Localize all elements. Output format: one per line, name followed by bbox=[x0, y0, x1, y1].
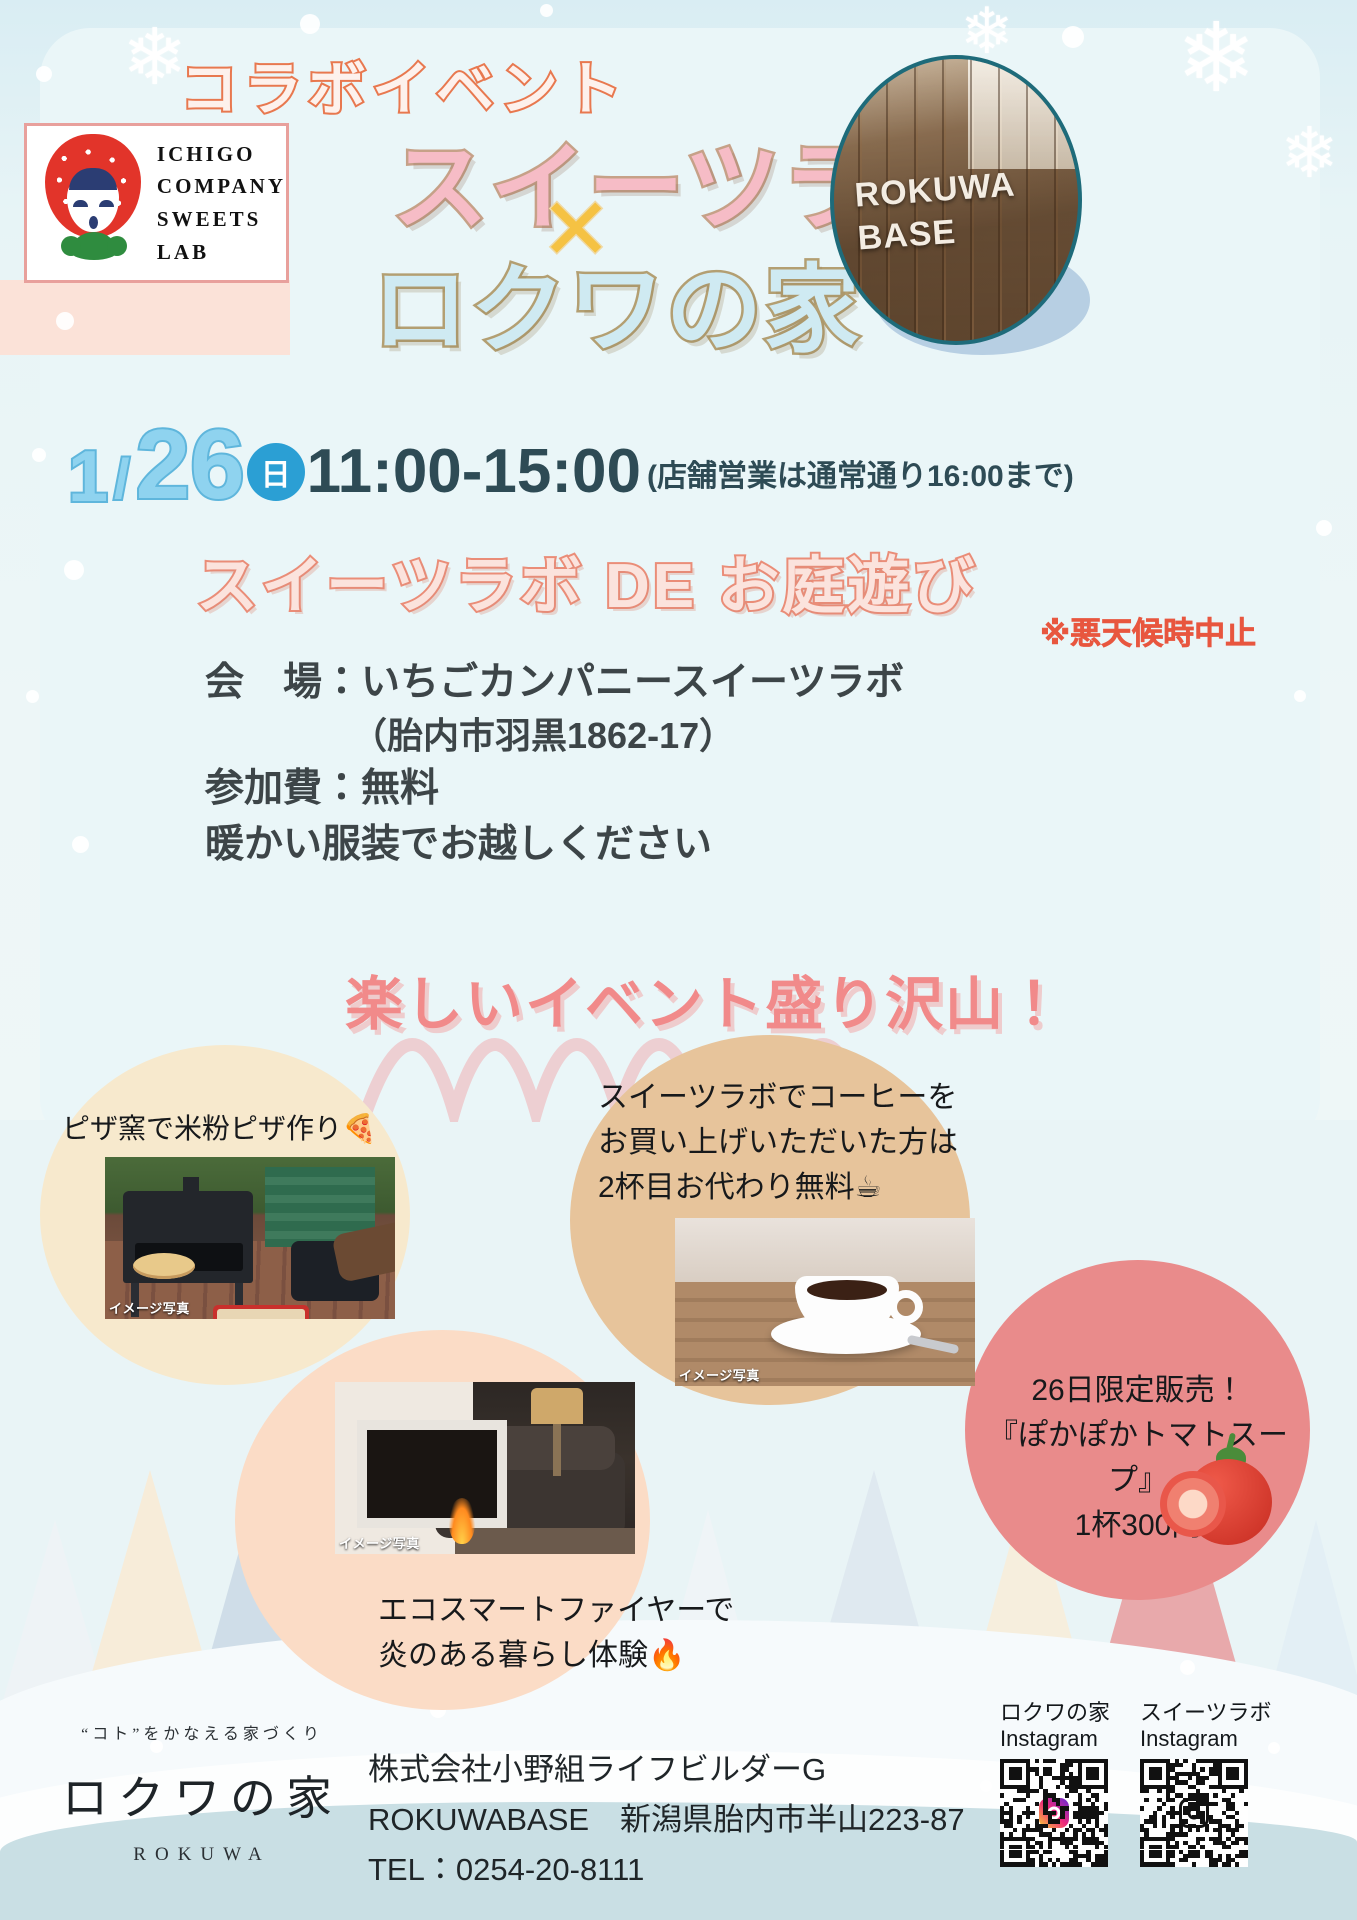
store-hours-note: (店舗営業は通常通り16:00まで) bbox=[647, 451, 1074, 495]
coffee-caption-line-3: 2杯目お代わり無料☕ bbox=[598, 1165, 958, 1210]
fireplace-caption-line-2: 炎のある暮らし体験🔥 bbox=[378, 1633, 734, 1678]
brand-tagline: “コト”をかなえる家づくり bbox=[62, 1720, 342, 1744]
logo-line-2: COMPANY bbox=[157, 170, 286, 203]
logo-line-1: ICHIGO bbox=[157, 138, 286, 171]
event-details: 会 場：いちごカンパニースイーツラボ （胎内市羽黒1862-17） 参加費：無料… bbox=[205, 655, 904, 872]
logo-line-4: LAB bbox=[157, 236, 286, 269]
brand-name: ロクワの家 bbox=[62, 1762, 342, 1828]
detail-fee: 参加費：無料 bbox=[205, 761, 904, 816]
qr-rokuwa-label: ロクワの家 Instagram bbox=[1000, 1700, 1110, 1753]
detail-address: （胎内市羽黒1862-17） bbox=[351, 710, 904, 761]
coffee-caption-line-1: スイーツラボでコーヒーを bbox=[598, 1075, 958, 1120]
brand-name-en: ROKUWA bbox=[62, 1844, 342, 1866]
qr-sweetslab-label-line-1: スイーツラボ bbox=[1140, 1700, 1272, 1726]
tomato-illustration bbox=[1160, 1445, 1272, 1549]
strawberry-girl-icon bbox=[33, 128, 153, 278]
qr-rokuwa-code[interactable] bbox=[1000, 1759, 1108, 1867]
qr-rokuwa-label-line-2: Instagram bbox=[1000, 1726, 1110, 1752]
coffee-photo-watermark: イメージ写真 bbox=[679, 1365, 760, 1384]
qr-sweetslab-instagram[interactable]: スイーツラボ Instagram bbox=[1140, 1700, 1272, 1867]
rokuwa-brand-mark: “コト”をかなえる家づくり ロクワの家 ROKUWA bbox=[62, 1720, 342, 1866]
date-day: 26 bbox=[136, 418, 245, 511]
fireplace-photo-watermark: イメージ写真 bbox=[339, 1533, 420, 1552]
fireplace-caption-line-1: エコスマートファイヤーで bbox=[378, 1588, 734, 1633]
logo-wordmark: ICHIGO COMPANY SWEETS LAB bbox=[153, 138, 286, 268]
rokuwa-base-sign: ROKUWA BASE bbox=[853, 163, 1019, 259]
fireplace-photo: イメージ写真 bbox=[335, 1382, 635, 1554]
ichigo-company-logo: ICHIGO COMPANY SWEETS LAB bbox=[24, 123, 289, 283]
decorative-pink-rectangle bbox=[0, 280, 290, 355]
pizza-photo: イメージ写真 bbox=[105, 1157, 395, 1319]
date-month: 1 bbox=[68, 443, 108, 511]
event-time: 11:00-15:00 bbox=[307, 441, 641, 503]
tomato-soup-line-1: 26日限定販売！ bbox=[988, 1368, 1288, 1413]
pizza-caption: ピザ窯で米粉ピザ作り🍕 bbox=[62, 1108, 377, 1150]
event-headline: スイーツラボ DE お庭遊び bbox=[196, 535, 977, 625]
base-address: ROKUWABASE 新潟県胎内市半山223-87 bbox=[368, 1795, 965, 1845]
date-weekday-badge: 日 bbox=[247, 443, 305, 501]
coffee-caption-line-2: お買い上げいただいた方は bbox=[598, 1120, 958, 1165]
pizza-photo-watermark: イメージ写真 bbox=[109, 1298, 190, 1317]
qr-sweetslab-label-line-2: Instagram bbox=[1140, 1726, 1272, 1752]
qr-sweetslab-label: スイーツラボ Instagram bbox=[1140, 1700, 1272, 1753]
date-slash: / bbox=[108, 452, 136, 511]
telephone: TEL：0254-20-8111 bbox=[368, 1845, 965, 1895]
detail-venue: 会 場：いちごカンパニースイーツラボ bbox=[205, 655, 904, 710]
qr-rokuwa-instagram[interactable]: ロクワの家 Instagram bbox=[1000, 1700, 1110, 1867]
rokuwa-base-photo: ROKUWA BASE bbox=[830, 55, 1082, 345]
event-date-line: 1 / 26 日 11:00-15:00 (店舗営業は通常通り16:00まで) bbox=[68, 418, 1074, 511]
detail-dress: 暖かい服装でお越しください bbox=[205, 817, 904, 872]
company-contact-info: 株式会社小野組ライフビルダーG ROKUWABASE 新潟県胎内市半山223-8… bbox=[368, 1745, 965, 1896]
title-rokuwa-house: ロクワの家 bbox=[372, 232, 862, 371]
qr-sweetslab-code[interactable] bbox=[1140, 1759, 1248, 1867]
coffee-caption: スイーツラボでコーヒーを お買い上げいただいた方は 2杯目お代わり無料☕ bbox=[598, 1075, 958, 1210]
bad-weather-cancel-note: ※悪天候時中止 bbox=[1040, 608, 1256, 653]
event-poster: ❄ ❄ ❄ ❄ ICHIGO COMPANY bbox=[0, 0, 1357, 1920]
fireplace-caption: エコスマートファイヤーで 炎のある暮らし体験🔥 bbox=[378, 1588, 734, 1678]
coffee-photo: イメージ写真 bbox=[675, 1218, 975, 1386]
logo-line-3: SWEETS bbox=[157, 203, 286, 236]
company-name: 株式会社小野組ライフビルダーG bbox=[368, 1745, 965, 1795]
qr-rokuwa-label-line-1: ロクワの家 bbox=[1000, 1700, 1110, 1726]
